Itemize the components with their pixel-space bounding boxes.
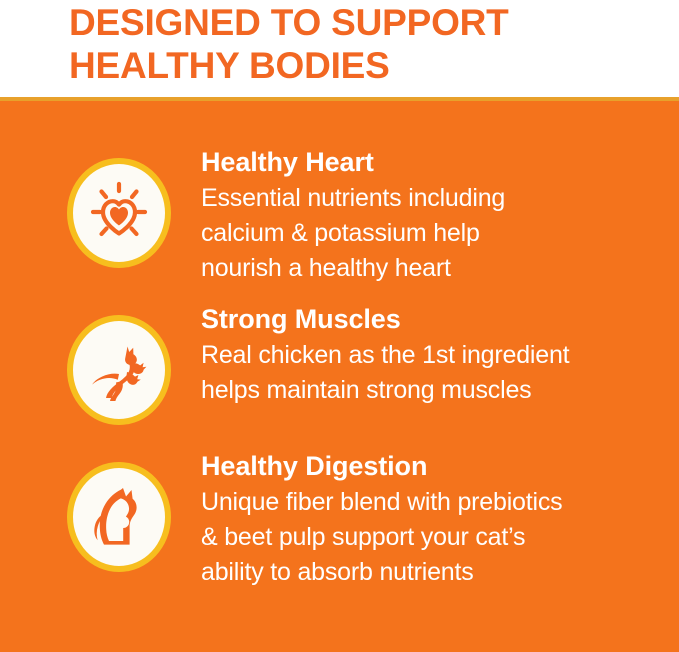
sitting-cat-digestion-icon: [82, 480, 156, 554]
feature-description: Unique fiber blend with prebiotics & bee…: [201, 485, 671, 590]
badge-healthy-heart: [67, 158, 171, 268]
feature-description: Essential nutrients including calcium & …: [201, 181, 671, 286]
header-band: DESIGNED TO SUPPORT HEALTHY BODIES: [0, 0, 679, 97]
feature-text-healthy-digestion: Healthy Digestion Unique fiber blend wit…: [201, 449, 671, 590]
page-title: DESIGNED TO SUPPORT HEALTHY BODIES: [69, 1, 629, 87]
badge-strong-muscles: [67, 315, 171, 425]
feature-title: Healthy Heart: [201, 145, 671, 179]
feature-description: Real chicken as the 1st ingredient helps…: [201, 338, 671, 408]
product-benefits-infographic: DESIGNED TO SUPPORT HEALTHY BODIES: [0, 0, 679, 652]
feature-title: Strong Muscles: [201, 302, 671, 336]
heart-sunburst-icon: [82, 176, 156, 250]
badge-healthy-digestion: [67, 462, 171, 572]
jumping-cat-icon: [83, 334, 155, 406]
feature-text-strong-muscles: Strong Muscles Real chicken as the 1st i…: [201, 302, 671, 408]
feature-text-healthy-heart: Healthy Heart Essential nutrients includ…: [201, 145, 671, 286]
feature-title: Healthy Digestion: [201, 449, 671, 483]
benefits-panel: Healthy Heart Essential nutrients includ…: [0, 101, 679, 652]
